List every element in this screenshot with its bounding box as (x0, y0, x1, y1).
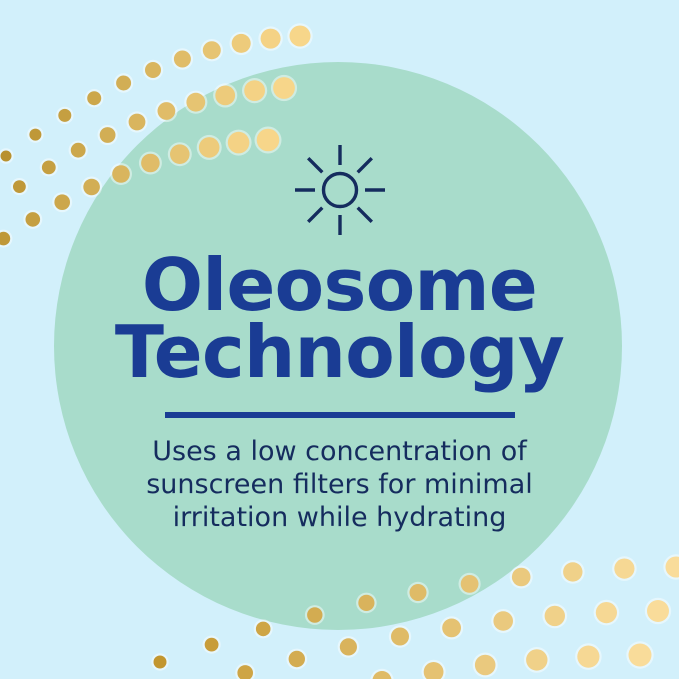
sun-icon (292, 142, 388, 238)
headline-line-1: Oleosome (115, 252, 564, 319)
divider-rule (165, 412, 515, 418)
card-content: Oleosome Technology Uses a low concentra… (0, 0, 679, 679)
page-title: Oleosome Technology (115, 238, 564, 386)
headline-line-2: Technology (115, 319, 564, 386)
promo-card: Oleosome Technology Uses a low concentra… (0, 0, 679, 679)
subcopy-line-2: sunscreen filters for minimal (140, 469, 540, 502)
subcopy-line-3: irritation while hydrating (140, 502, 540, 535)
subcopy-text: Uses a low concentration of sunscreen fi… (140, 436, 540, 535)
subcopy-line-1: Uses a low concentration of (140, 436, 540, 469)
